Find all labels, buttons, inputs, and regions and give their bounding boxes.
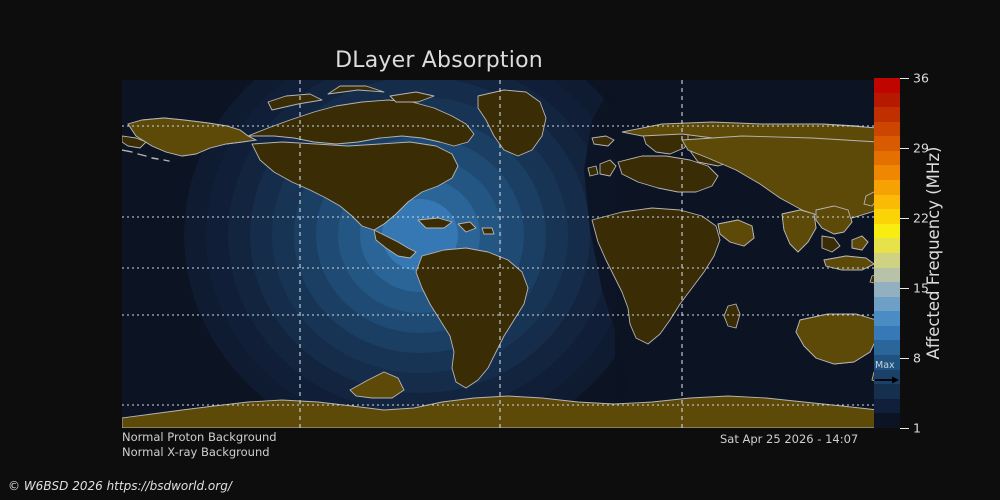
map-canvas [122,80,878,428]
status-proton-background: Normal Proton Background [122,430,277,445]
status-xray-background: Normal X-ray Background [122,445,277,460]
colorbar-tick-mark [900,288,909,289]
colorbar-segment [874,180,900,195]
colorbar-tick-mark [900,148,909,149]
colorbar[interactable] [874,78,900,428]
colorbar-tick-mark [900,358,909,359]
colorbar-tick-mark [900,78,909,79]
colorbar-segment [874,122,900,137]
colorbar-segment [874,311,900,326]
colorbar-segment [874,238,900,253]
colorbar-segment [874,326,900,341]
colorbar-segment [874,399,900,414]
colorbar-segment [874,253,900,268]
colorbar-segment [874,297,900,312]
colorbar-tick-label: 1 [913,421,921,436]
world-absorption-map[interactable] [122,80,878,428]
colorbar-tick-label: 8 [913,351,921,366]
colorbar-segment [874,136,900,151]
colorbar-segment [874,340,900,355]
colorbar-tick-mark [900,428,909,429]
colorbar-segment [874,93,900,108]
footer-credit: © W6BSD 2026 https://bsdworld.org/ [8,479,232,493]
colorbar-segment [874,107,900,122]
page-title: DLayer Absorption [0,48,878,73]
colorbar-segment [874,224,900,239]
colorbar-segment [874,78,900,93]
status-messages: Normal Proton Background Normal X-ray Ba… [122,430,277,459]
colorbar-segment [874,268,900,283]
colorbar-segment [874,413,900,428]
colorbar-tick-mark [900,218,909,219]
dlayer-absorption-app: DLayer Absorption [0,0,1000,500]
status-timestamp: Sat Apr 25 2026 - 14:07 [720,432,858,446]
colorbar-segment [874,209,900,224]
colorbar-axis-label: Affected Frequency (MHz) [921,78,947,428]
colorbar-segment [874,370,900,385]
colorbar-segment [874,384,900,399]
colorbar-segment [874,355,900,370]
colorbar-segment [874,282,900,297]
colorbar-segment [874,165,900,180]
colorbar-segment [874,195,900,210]
colorbar-segment [874,151,900,166]
